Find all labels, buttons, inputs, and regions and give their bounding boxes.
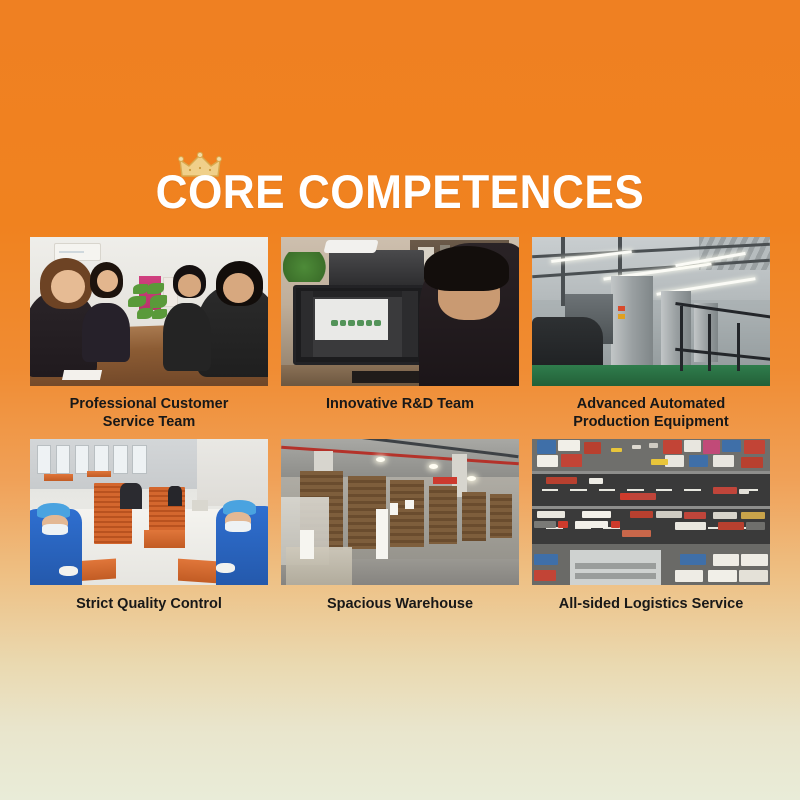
meeting-room-photo (30, 237, 268, 386)
caption-line-2: Production Equipment (573, 414, 728, 430)
caption-line-1: Advanced Automated (577, 396, 726, 412)
competence-grid: Professional Customer Service Team (30, 237, 770, 613)
competence-item-spacious-warehouse: Spacious Warehouse (281, 439, 519, 613)
caption: Innovative R&D Team (281, 395, 519, 413)
competence-item-innovative-rd-team: Innovative R&D Team (281, 237, 519, 431)
quality-inspection-photo (30, 439, 268, 585)
page-title: CORE COMPETENCES (156, 168, 645, 216)
warehouse-pallets-photo (281, 439, 519, 585)
competence-item-professional-customer-service-team: Professional Customer Service Team (30, 237, 268, 431)
caption-line-1: All-sided Logistics Service (559, 596, 744, 612)
designer-at-monitor-photo (281, 237, 519, 386)
caption: Professional Customer Service Team (30, 395, 268, 431)
core-competences-poster: CORE COMPETENCES (0, 0, 800, 800)
caption-line-1: Spacious Warehouse (327, 596, 473, 612)
competence-item-advanced-automated-production-equipment: Advanced Automated Production Equipment (532, 237, 770, 431)
aerial-container-depot-photo (532, 439, 770, 585)
printing-press-photo (532, 237, 770, 386)
caption: Strict Quality Control (30, 595, 268, 613)
caption-line-1: Innovative R&D Team (326, 396, 474, 412)
caption-line-1: Professional Customer (70, 396, 229, 412)
caption: All-sided Logistics Service (532, 595, 770, 613)
competence-item-all-sided-logistics-service: All-sided Logistics Service (532, 439, 770, 613)
caption-line-1: Strict Quality Control (76, 596, 222, 612)
caption: Spacious Warehouse (281, 595, 519, 613)
caption: Advanced Automated Production Equipment (532, 395, 770, 431)
title-block: CORE COMPETENCES (0, 152, 800, 216)
caption-line-2: Service Team (103, 414, 195, 430)
competence-item-strict-quality-control: Strict Quality Control (30, 439, 268, 613)
